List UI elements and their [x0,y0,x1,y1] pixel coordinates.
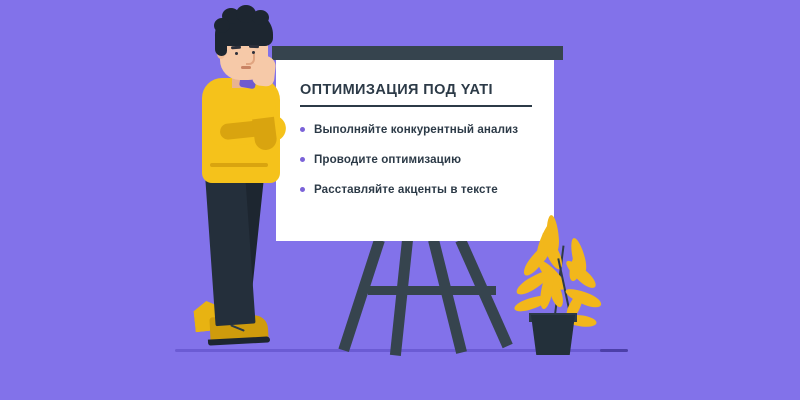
bullet-text: Расставляйте акценты в тексте [314,183,498,196]
person-sweater-fold [210,163,268,167]
person-hair-sideburn [215,30,227,56]
person-eyebrow-right [249,45,259,48]
easel-crossbar [368,286,496,295]
heading-underline [300,105,532,107]
bullet-text: Проводите оптимизацию [314,153,461,166]
person-mouth [241,66,251,69]
whiteboard-heading: ОПТИМИЗАЦИЯ ПОД YATI [300,82,540,98]
potted-plant-icon [505,205,630,355]
list-item: Выполняйте конкурентный анализ [300,123,540,136]
whiteboard-content: ОПТИМИЗАЦИЯ ПОД YATI Выполняйте конкурен… [300,82,540,213]
bullet-list: Выполняйте конкурентный анализ Проводите… [300,123,540,196]
plant-pot [531,315,575,355]
person-hair-tuft [252,10,269,25]
list-item: Проводите оптимизацию [300,153,540,166]
illustration-scene: ОПТИМИЗАЦИЯ ПОД YATI Выполняйте конкурен… [0,0,800,400]
person-hair-tuft [214,18,230,33]
bullet-text: Выполняйте конкурентный анализ [314,123,518,136]
person-eye-left [235,52,238,55]
list-item: Расставляйте акценты в тексте [300,183,540,196]
thinking-person-icon [180,0,330,365]
